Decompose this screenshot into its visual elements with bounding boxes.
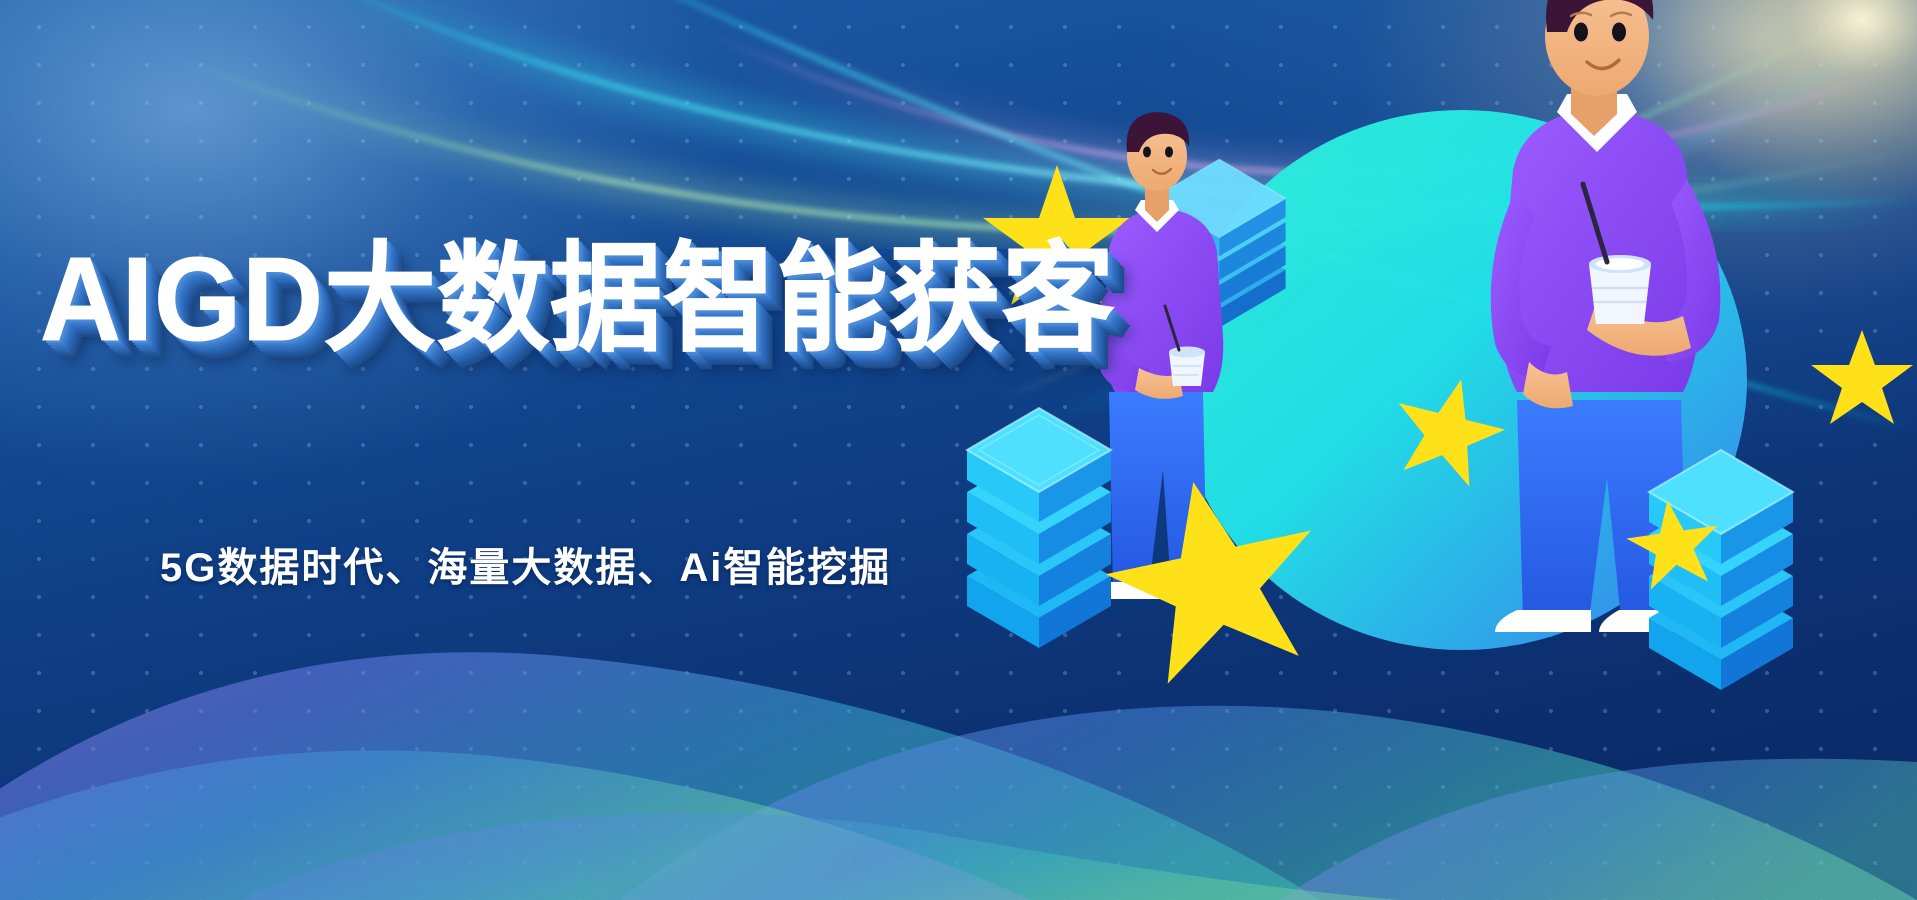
star-edge-right [1811,330,1913,424]
text-block: AIGD大数据智能获客 5G数据时代、海量大数据、Ai智能挖掘 [0,0,1060,900]
front-man-large-purple-shirt [1491,0,1721,632]
promo-banner: AIGD大数据智能获客 5G数据时代、海量大数据、Ai智能挖掘 [0,0,1917,900]
page-subtitle: 5G数据时代、海量大数据、Ai智能挖掘 [160,535,891,593]
server-stack-right [1649,450,1793,690]
server-stack-top [1153,159,1286,327]
page-title: AIGD大数据智能获客 [40,236,1115,364]
coffee-cup-large [1583,184,1651,324]
star-large-center [1091,460,1336,691]
top-right-glow [1622,0,1917,210]
hero-illustration [957,0,1917,900]
coffee-cup-small [1165,306,1205,386]
teal-circle-backdrop [1177,110,1747,650]
star-mid-right [1383,366,1514,492]
star-small-right [1622,494,1725,592]
